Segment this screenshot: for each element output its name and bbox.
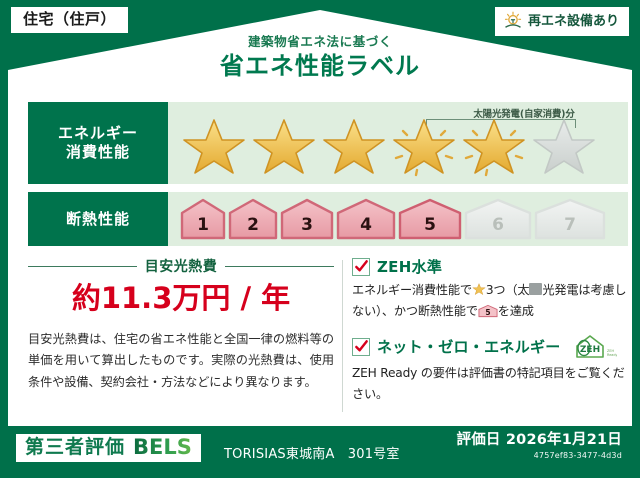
zeh-standard-title: ZEH水準 xyxy=(377,256,442,277)
heading-rule-left xyxy=(28,266,137,267)
insulation-badge-label: 1 xyxy=(180,215,226,235)
insulation-performance-row: 断熱性能 1 xyxy=(28,192,628,246)
insulation-badge-6: 6 xyxy=(464,198,532,240)
renewable-equipment-badge: 再エネ設備あり xyxy=(494,6,630,37)
zeh-standard-checkbox xyxy=(352,258,370,276)
zeh-body-part4: を達成 xyxy=(498,304,534,318)
inline-star-icon xyxy=(472,282,486,296)
star-rating xyxy=(168,114,598,178)
insulation-badge-label: 6 xyxy=(464,215,532,235)
insulation-badge-label: 5 xyxy=(398,215,462,235)
insulation-badge-5: 5 xyxy=(398,198,462,240)
energy-performance-label-cell: エネルギー 消費性能 xyxy=(28,102,168,184)
net-zero-heading: ネット・ゼロ・エネルギー ZEH ZEH Ready xyxy=(352,334,628,360)
sun-solar-icon xyxy=(503,11,523,31)
star-icon xyxy=(460,114,528,178)
zeh-standard-heading: ZEH水準 xyxy=(352,256,628,277)
evaluation-info: 評価日 2026年1月21日 4757ef83-3477-4d3d xyxy=(457,433,622,460)
column-divider xyxy=(342,260,343,412)
net-zero-energy-block: ネット・ゼロ・エネルギー ZEH ZEH Ready ZEH Ready の要件… xyxy=(352,334,628,405)
zeh-standard-body: エネルギー消費性能で3つ（太光発電は考慮しない）、かつ断熱性能で5を達成 xyxy=(352,280,628,322)
energy-performance-label: 住宅（住戸） 再エネ設備あり 建築物省エネ法に基づく 省エネ性能ラベル エネルギ… xyxy=(0,0,640,478)
category-badge: 住宅（住戸） xyxy=(10,6,129,34)
insulation-levels-cell: 1 2 3 xyxy=(168,192,628,246)
zeh-body-part2: 3つ（太 xyxy=(486,283,530,297)
star-1-filled xyxy=(180,114,248,178)
insulation-badge-4: 4 xyxy=(336,198,396,240)
energy-performance-row: エネルギー 消費性能 太陽光発電(自家消費)分 xyxy=(28,102,628,184)
bels-jp-label: 第三者評価 xyxy=(25,438,125,457)
insulation-badge-label: 3 xyxy=(280,215,334,235)
insulation-badge-1: 1 xyxy=(180,198,226,240)
star-2-filled xyxy=(250,114,318,178)
inline-house-badge-icon: 5 xyxy=(478,303,498,319)
star-icon xyxy=(530,114,598,178)
svg-text:ZEH: ZEH xyxy=(580,345,600,355)
star-icon xyxy=(180,114,248,178)
zeh-ready-logo-icon: ZEH ZEH Ready xyxy=(573,334,617,360)
check-icon xyxy=(354,339,369,354)
star-icon xyxy=(320,114,388,178)
label-body: エネルギー 消費性能 太陽光発電(自家消費)分 xyxy=(8,88,632,426)
star-icon xyxy=(250,114,318,178)
star-5-filled-solar xyxy=(460,114,528,178)
net-zero-body: ZEH Ready の要件は評価書の特記項目をご覧ください。 xyxy=(352,363,628,405)
net-zero-checkbox xyxy=(352,338,370,356)
star-6-empty xyxy=(530,114,598,178)
bels-en-label: BELS xyxy=(133,437,192,458)
energy-stars-cell: 太陽光発電(自家消費)分 xyxy=(168,102,628,184)
insulation-badge-3: 3 xyxy=(280,198,334,240)
evaluation-id: 4757ef83-3477-4d3d xyxy=(457,451,622,460)
insulation-badge-label: 2 xyxy=(228,215,278,235)
insulation-badge-label: 4 xyxy=(336,215,396,235)
cost-note: 目安光熱費は、住宅の省エネ性能と全国一律の燃料等の単価を用いて算出したものです。… xyxy=(28,329,334,393)
redacted-character xyxy=(529,283,542,295)
insulation-badge-2: 2 xyxy=(228,198,278,240)
estimated-utility-cost-section: 目安光熱費 約11.3万円 / 年 目安光熱費は、住宅の省エネ性能と全国一律の燃… xyxy=(28,256,334,393)
energy-label-line1: エネルギー xyxy=(58,124,138,143)
insulation-level-badges: 1 2 3 xyxy=(168,198,606,240)
zeh-body-part1: エネルギー消費性能で xyxy=(352,283,472,297)
unit-name: TORISIAS東城南A 301号室 xyxy=(224,443,400,462)
cost-amount: 約11.3万円 / 年 xyxy=(28,284,334,313)
evaluation-date: 評価日 2026年1月21日 xyxy=(457,433,622,449)
star-3-filled xyxy=(320,114,388,178)
renewable-badge-label: 再エネ設備あり xyxy=(528,15,619,28)
energy-label-line2: 消費性能 xyxy=(66,143,130,162)
insulation-label: 断熱性能 xyxy=(66,210,130,229)
check-icon xyxy=(354,259,369,274)
svg-text:Ready: Ready xyxy=(607,353,617,357)
insulation-badge-7: 7 xyxy=(534,198,606,240)
insulation-performance-label-cell: 断熱性能 xyxy=(28,192,168,246)
star-icon xyxy=(390,114,458,178)
cost-heading-label: 目安光熱費 xyxy=(145,256,218,276)
cost-heading: 目安光熱費 xyxy=(28,256,334,276)
insulation-badge-label: 7 xyxy=(534,215,606,235)
bels-logo: 第三者評価 BELS xyxy=(16,434,201,462)
label-footer: 第三者評価 BELS TORISIAS東城南A 301号室 評価日 2026年1… xyxy=(8,428,632,470)
svg-text:5: 5 xyxy=(485,308,490,317)
zeh-standard-block: ZEH水準 エネルギー消費性能で3つ（太光発電は考慮しない）、かつ断熱性能で5を… xyxy=(352,256,628,322)
net-zero-title: ネット・ゼロ・エネルギー xyxy=(377,336,561,357)
star-4-filled-solar xyxy=(390,114,458,178)
heading-rule-right xyxy=(225,266,334,267)
criteria-section: ZEH水準 エネルギー消費性能で3つ（太光発電は考慮しない）、かつ断熱性能で5を… xyxy=(352,256,628,417)
